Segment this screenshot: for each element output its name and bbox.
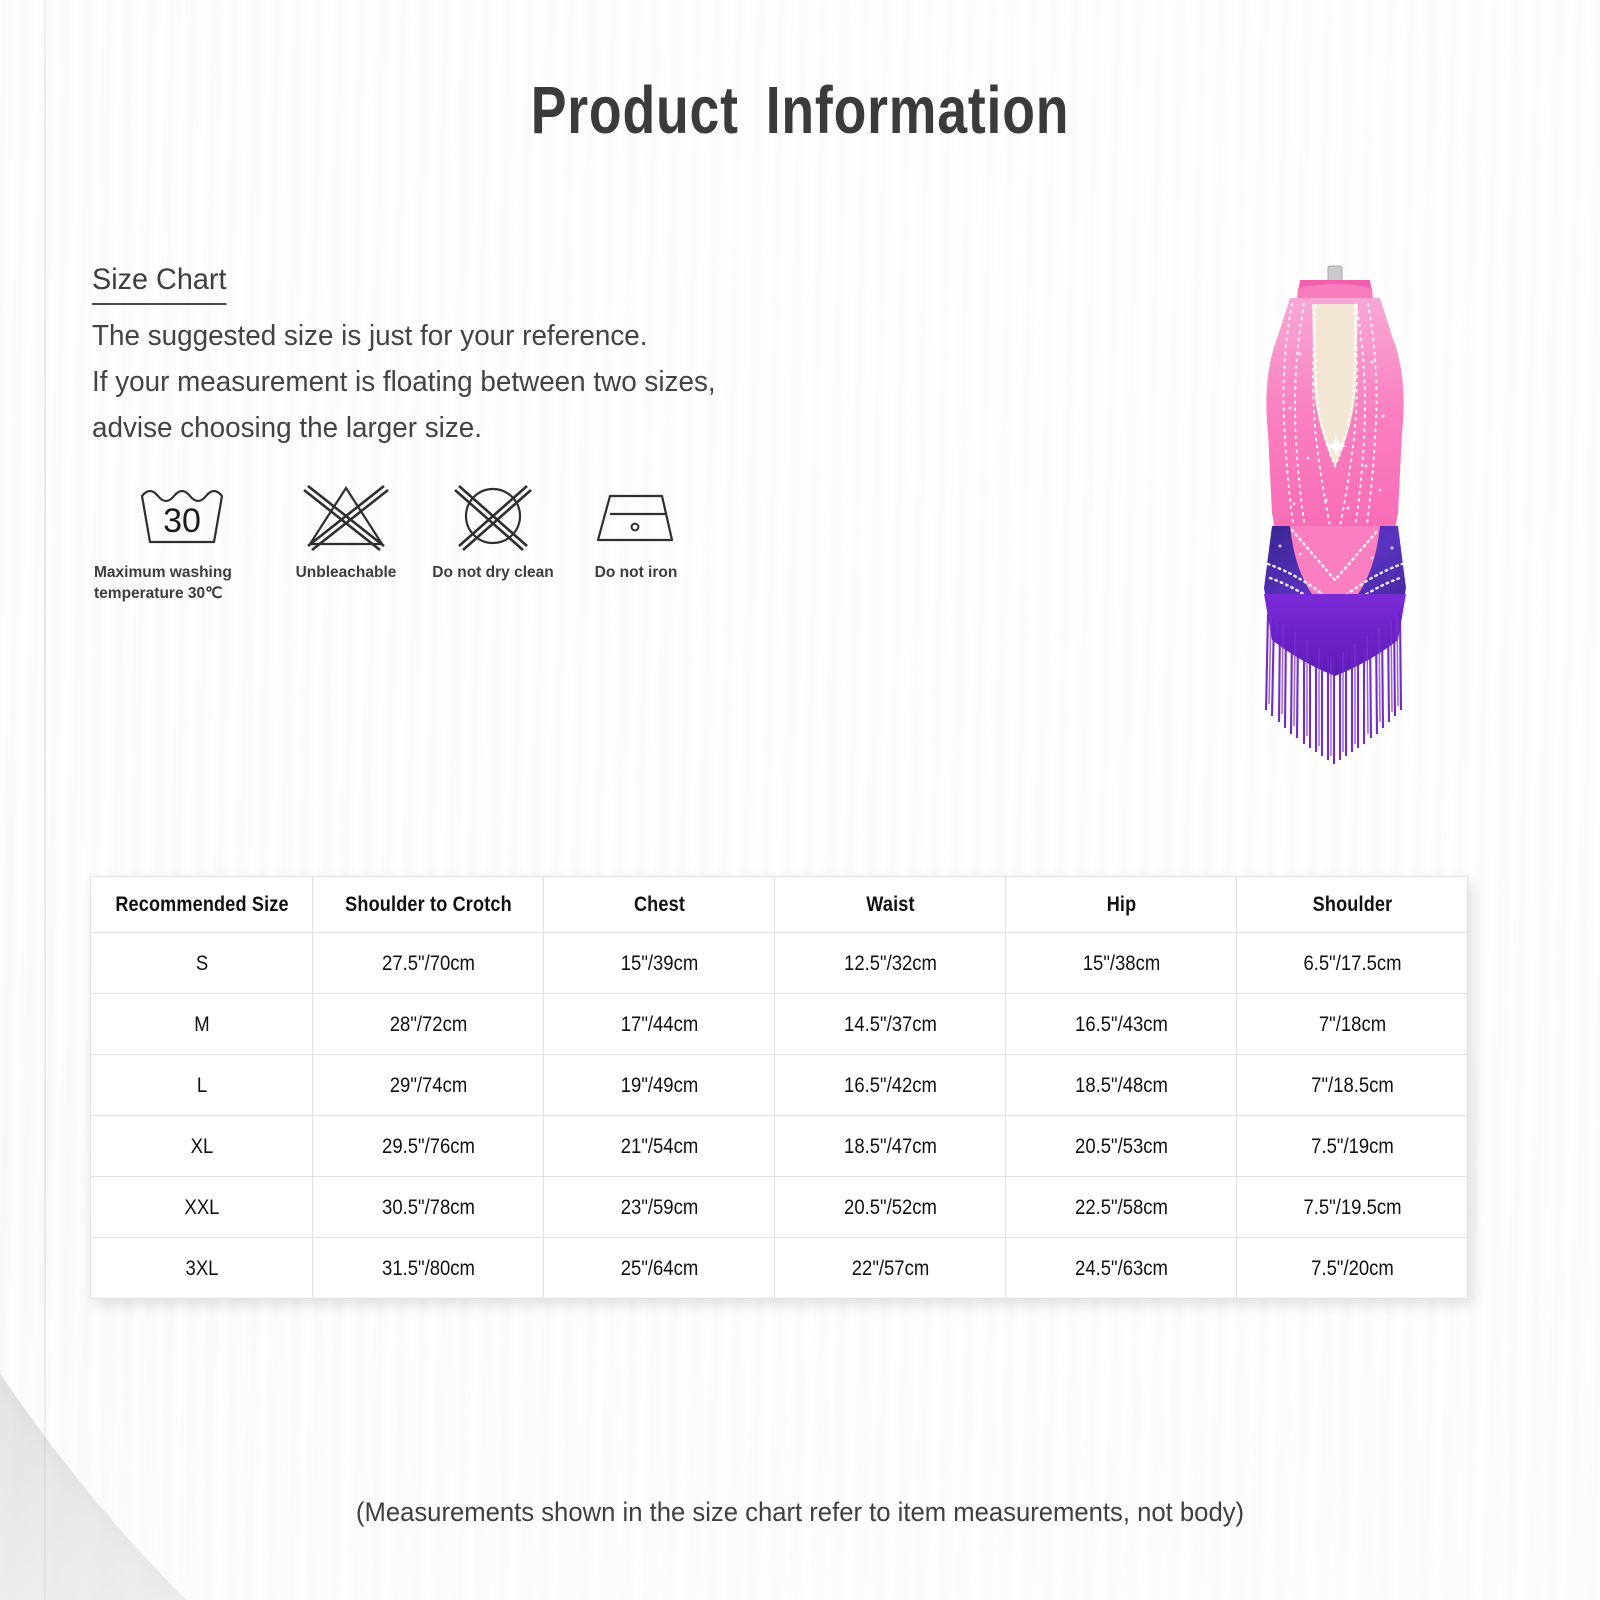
cell-hip: 16.5"/43cm (1022, 994, 1221, 1055)
cell-chest: 23"/59cm (560, 1177, 759, 1238)
cell-shoulder-to-crotch: 28"/72cm (329, 994, 528, 1055)
intro-line-1: The suggested size is just for your refe… (92, 313, 841, 359)
table-header-hip: Hip (1022, 877, 1221, 933)
care-symbol-no-iron: Do not iron (566, 478, 706, 583)
cell-shoulder-to-crotch: 29"/74cm (329, 1055, 528, 1116)
cell-waist: 12.5"/32cm (791, 933, 990, 994)
no-iron-icon (588, 478, 684, 554)
svg-text:30: 30 (163, 502, 201, 540)
table-header-row: Recommended Size Shoulder to Crotch Ches… (91, 877, 1468, 933)
cell-hip: 24.5"/63cm (1022, 1238, 1221, 1299)
care-symbol-unbleachable: Unbleachable (272, 478, 420, 583)
cell-chest: 25"/64cm (560, 1238, 759, 1299)
table-row: M 28"/72cm 17"/44cm 14.5"/37cm 16.5"/43c… (91, 994, 1468, 1055)
cell-shoulder: 7.5"/19cm (1253, 1116, 1452, 1177)
cell-waist: 18.5"/47cm (791, 1116, 990, 1177)
table-row: XL 29.5"/76cm 21"/54cm 18.5"/47cm 20.5"/… (91, 1116, 1468, 1177)
care-label-unbleachable: Unbleachable (296, 562, 397, 583)
background-left-seam (44, 0, 46, 1600)
table-header-shoulder-to-crotch: Shoulder to Crotch (329, 877, 528, 933)
no-bleach-triangle-icon (298, 478, 394, 554)
table-header-chest: Chest (560, 877, 759, 933)
cell-chest: 17"/44cm (560, 994, 759, 1055)
wash-tub-30-icon: 30 (134, 478, 230, 554)
table-row: XXL 30.5"/78cm 23"/59cm 20.5"/52cm 22.5"… (91, 1177, 1468, 1238)
table-row: L 29"/74cm 19"/49cm 16.5"/42cm 18.5"/48c… (91, 1055, 1468, 1116)
cell-hip: 22.5"/58cm (1022, 1177, 1221, 1238)
care-symbols-row: 30 Maximum washing temperature 30℃ Unble… (92, 478, 706, 604)
cell-shoulder-to-crotch: 27.5"/70cm (329, 933, 528, 994)
intro-line-3: advise choosing the larger size. (92, 405, 841, 451)
measurements-footnote: (Measurements shown in the size chart re… (40, 1497, 1560, 1528)
page-title: Product Information (160, 72, 1440, 149)
cell-chest: 15"/39cm (560, 933, 759, 994)
cell-waist: 14.5"/37cm (791, 994, 990, 1055)
cell-waist: 22"/57cm (791, 1238, 990, 1299)
cell-shoulder-to-crotch: 30.5"/78cm (329, 1177, 528, 1238)
cell-hip: 18.5"/48cm (1022, 1055, 1221, 1116)
cell-shoulder-to-crotch: 29.5"/76cm (329, 1116, 528, 1177)
cell-hip: 20.5"/53cm (1022, 1116, 1221, 1177)
care-symbol-wash-30: 30 Maximum washing temperature 30℃ (92, 478, 272, 604)
cell-size: XL (106, 1116, 297, 1177)
cell-shoulder: 7"/18cm (1253, 994, 1452, 1055)
care-label-wash: Maximum washing temperature 30℃ (94, 562, 232, 604)
cell-size: 3XL (106, 1238, 297, 1299)
table-header-waist: Waist (791, 877, 990, 933)
cell-shoulder-to-crotch: 31.5"/80cm (329, 1238, 528, 1299)
product-information-page: Product Information Size Chart The sugge… (0, 0, 1600, 1600)
cell-shoulder: 6.5"/17.5cm (1253, 933, 1452, 994)
cell-chest: 19"/49cm (560, 1055, 759, 1116)
care-label-no-dry-clean: Do not dry clean (432, 562, 553, 583)
cell-waist: 20.5"/52cm (791, 1177, 990, 1238)
table-row: S 27.5"/70cm 15"/39cm 12.5"/32cm 15"/38c… (91, 933, 1468, 994)
cell-size: S (106, 933, 297, 994)
cell-size: L (106, 1055, 297, 1116)
cell-shoulder: 7"/18.5cm (1253, 1055, 1452, 1116)
cell-size: M (106, 994, 297, 1055)
size-chart-intro: Size Chart The suggested size is just fo… (92, 258, 872, 451)
table-header-recommended-size: Recommended Size (106, 877, 297, 933)
no-dry-clean-circle-icon (445, 478, 541, 554)
table-row: 3XL 31.5"/80cm 25"/64cm 22"/57cm 24.5"/6… (91, 1238, 1468, 1299)
cell-hip: 15"/38cm (1022, 933, 1221, 994)
cell-size: XXL (106, 1177, 297, 1238)
care-symbol-no-dry-clean: Do not dry clean (420, 478, 566, 583)
cell-waist: 16.5"/42cm (791, 1055, 990, 1116)
product-dress-image (1140, 258, 1530, 778)
cell-shoulder: 7.5"/19.5cm (1253, 1177, 1452, 1238)
care-label-no-iron: Do not iron (595, 562, 678, 583)
size-chart-table: Recommended Size Shoulder to Crotch Ches… (90, 876, 1468, 1299)
table-header-shoulder: Shoulder (1253, 877, 1452, 933)
size-chart-heading: Size Chart (92, 258, 226, 305)
cell-chest: 21"/54cm (560, 1116, 759, 1177)
intro-line-2: If your measurement is floating between … (92, 359, 841, 405)
cell-shoulder: 7.5"/20cm (1253, 1238, 1452, 1299)
